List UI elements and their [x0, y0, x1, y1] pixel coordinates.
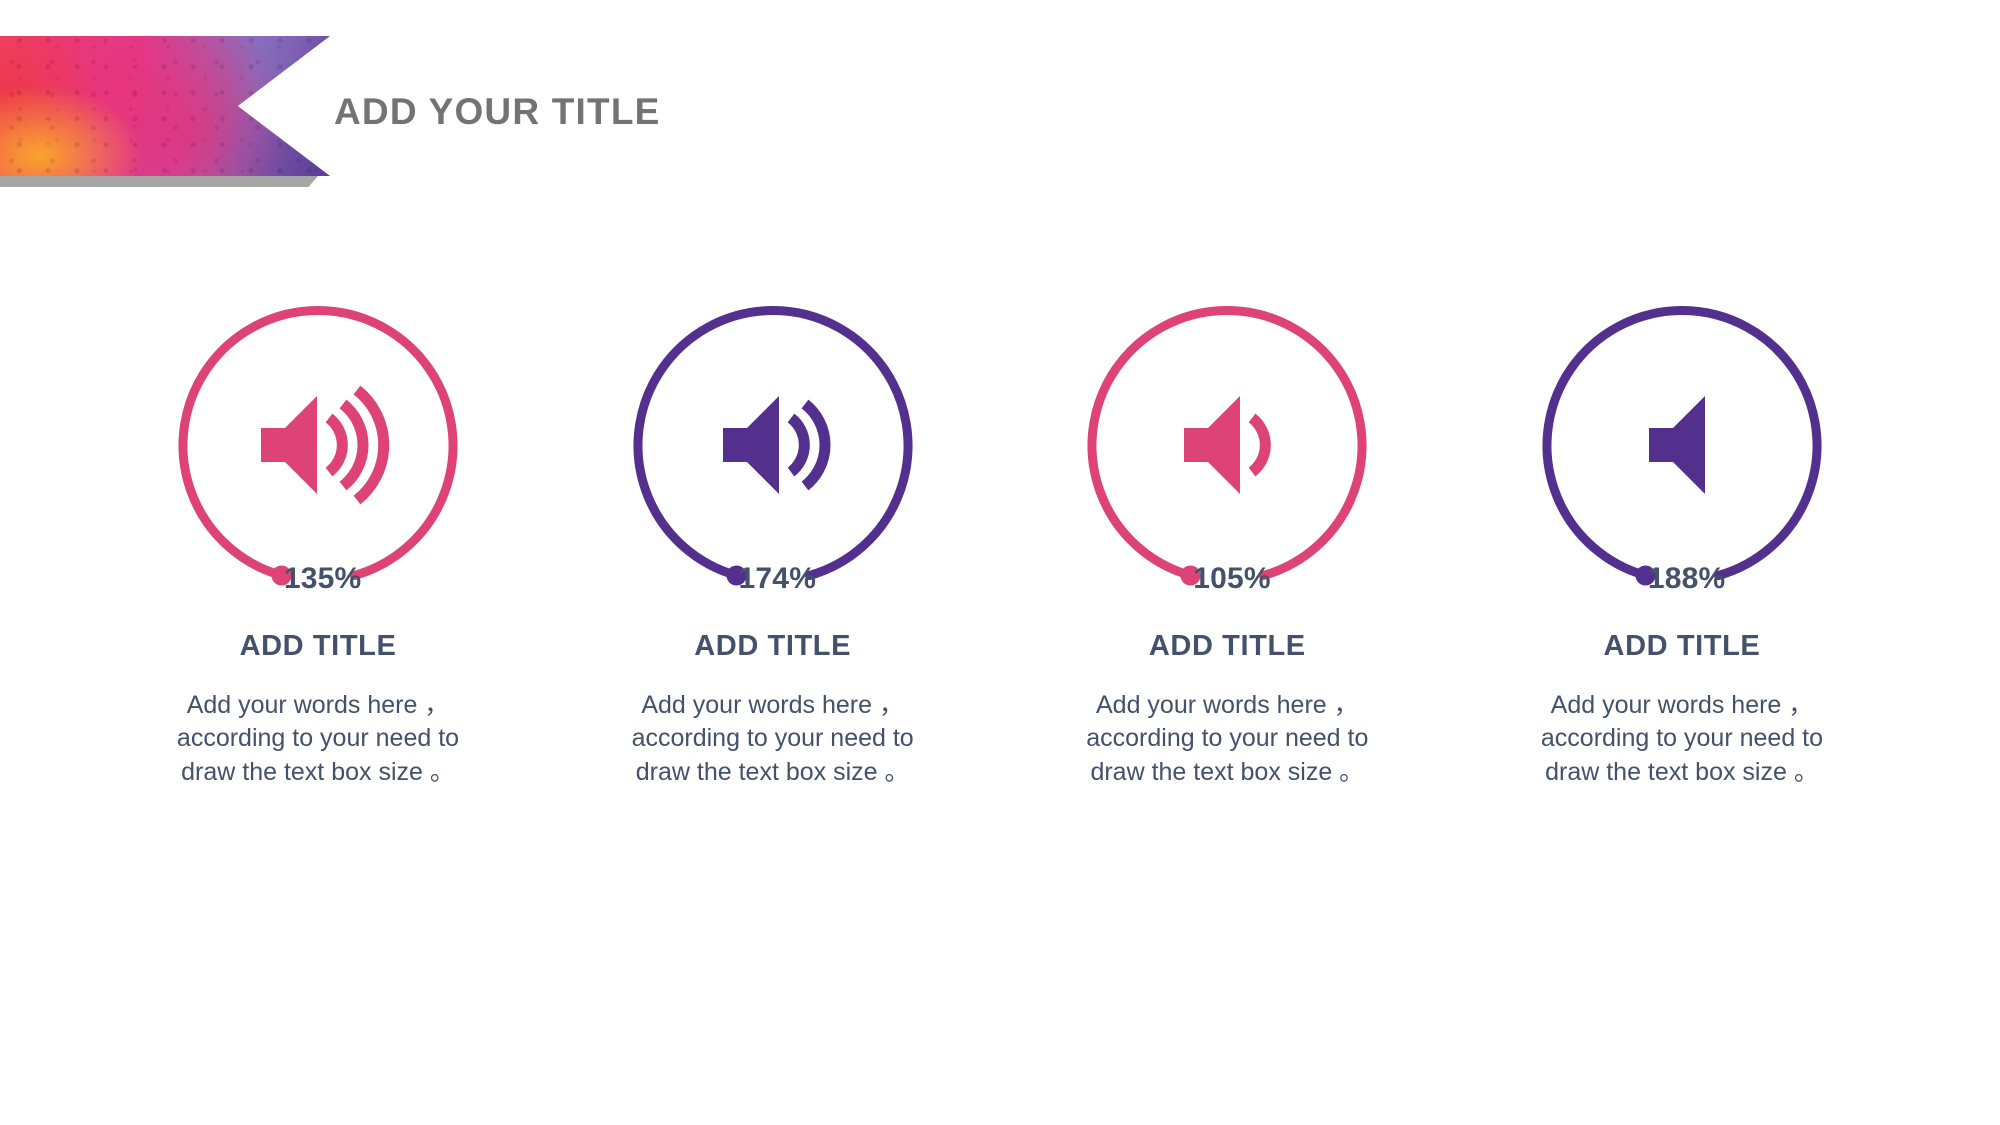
card-1[interactable]: 135% ADD TITLE Add your words here ， acc… — [120, 300, 516, 789]
gauge-arc — [183, 311, 453, 576]
gauge-percent-label: 135% — [284, 562, 362, 596]
slide-header: ADD YOUR TITLE — [0, 36, 661, 188]
gauge-ring-3 — [1082, 300, 1372, 590]
card-title: ADD TITLE — [240, 630, 397, 663]
card-title: ADD TITLE — [1604, 630, 1761, 663]
card-4[interactable]: 188% ADD TITLE Add your words here ， acc… — [1484, 300, 1880, 789]
gauge-percent-label: 174% — [739, 562, 817, 596]
ribbon-graphic — [0, 36, 330, 188]
gauge-3: 105% — [1082, 300, 1372, 590]
card-title: ADD TITLE — [1149, 630, 1306, 663]
gauge-ring-1 — [173, 300, 463, 590]
gauge-ring-4 — [1537, 300, 1827, 590]
speaker-volume-high-icon — [261, 390, 384, 500]
gauge-4: 188% — [1537, 300, 1827, 590]
speaker-volume-mute-icon — [1649, 396, 1705, 494]
gauge-percent-label: 188% — [1648, 562, 1726, 596]
gauge-percent-label: 105% — [1193, 562, 1271, 596]
gauge-ring-2 — [628, 300, 918, 590]
speaker-volume-low-icon — [1184, 396, 1265, 494]
page-title: ADD YOUR TITLE — [334, 91, 661, 133]
ribbon-shadow — [0, 176, 318, 187]
card-2[interactable]: 174% ADD TITLE Add your words here ， acc… — [575, 300, 971, 789]
card-3[interactable]: 105% ADD TITLE Add your words here ， acc… — [1029, 300, 1425, 789]
cards-row: 135% ADD TITLE Add your words here ， acc… — [120, 300, 1880, 789]
gauge-1: 135% — [173, 300, 463, 590]
card-body-text: Add your words here ， according to your … — [1057, 689, 1397, 789]
card-title: ADD TITLE — [694, 630, 851, 663]
card-body-text: Add your words here ， according to your … — [1512, 689, 1852, 789]
card-body-text: Add your words here ， according to your … — [148, 689, 488, 789]
card-body-text: Add your words here ， according to your … — [603, 689, 943, 789]
gauge-2: 174% — [628, 300, 918, 590]
slide-root: ADD YOUR TITLE 135% ADD TITLE A — [0, 0, 2000, 1125]
ribbon-texture-overlay — [0, 36, 330, 176]
speaker-volume-medium-icon — [723, 396, 825, 494]
